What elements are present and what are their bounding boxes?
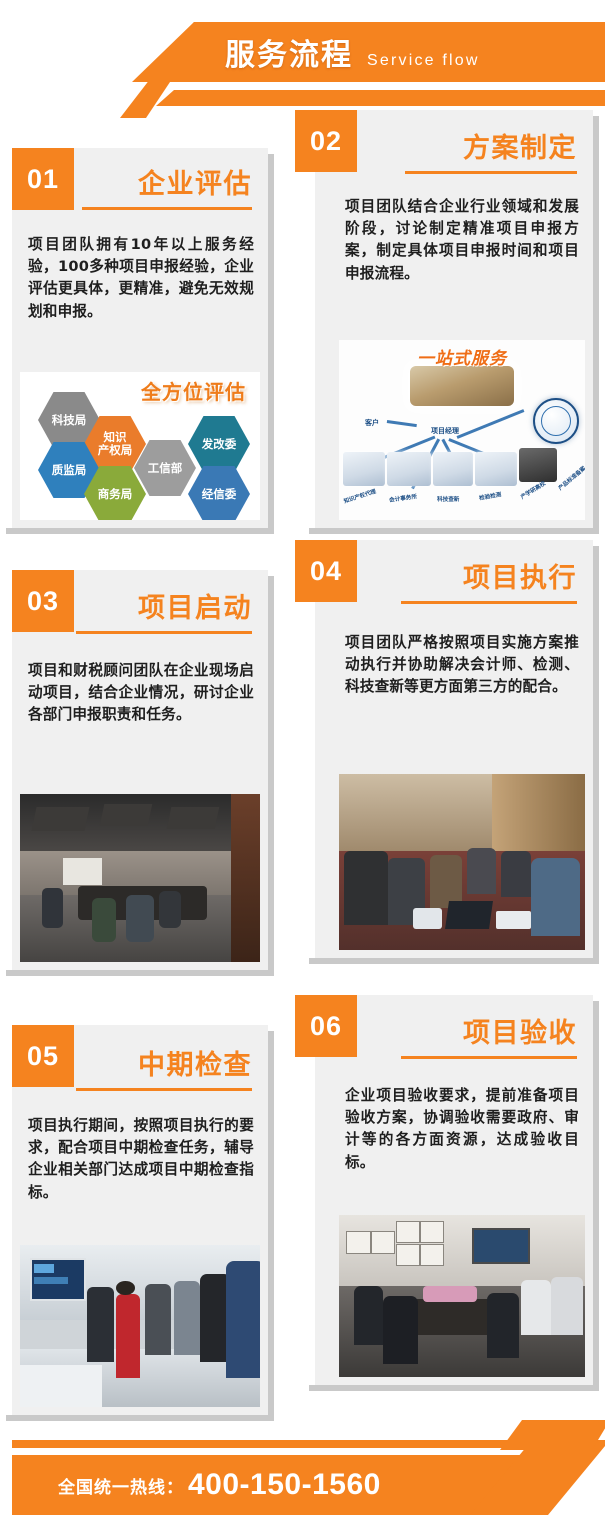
- card-body-02: 项目团队结合企业行业领域和发展阶段，讨论制定精准项目申报方案，制定具体项目申报时…: [345, 196, 579, 285]
- card-badge-06: 06: [295, 995, 357, 1057]
- one-stop-node-xiangmujingli: 项目经理: [431, 426, 459, 436]
- card-photo-06: [339, 1215, 585, 1377]
- one-stop-diagram-02: 一站式服务 客户 项目经理 知识产权代理 会计事务所 科技查新 检验检测 产学研…: [339, 340, 585, 520]
- card-title-rule-05: [76, 1088, 252, 1091]
- one-stop-caption: 一站式服务: [339, 344, 585, 369]
- infographic-page: 服务流程 Service flow 01 企业评估 项目团队拥有10年以上服务经…: [0, 0, 605, 1538]
- one-stop-label-1: 知识产权代理: [343, 487, 377, 505]
- footer-thin-bar: [12, 1440, 532, 1448]
- card-photo-03: [20, 794, 260, 962]
- card-badge-05: 05: [12, 1025, 74, 1087]
- one-stop-node-kehu: 客户: [365, 418, 379, 428]
- card-body-03: 项目和财税顾问团队在企业现场启动项目，结合企业情况，研讨企业各部门申报职责和任务…: [28, 660, 254, 727]
- one-stop-img-4: [475, 452, 517, 486]
- card-title-rule-01: [82, 207, 252, 210]
- one-stop-label-4: 检验检测: [478, 490, 501, 502]
- card-body-05: 项目执行期间，按照项目执行的要求，配合项目中期检查任务，辅导企业相关部门达成项目…: [28, 1115, 254, 1204]
- card-title-rule-02: [405, 171, 577, 174]
- hotline-number[interactable]: 400-150-1560: [188, 1468, 381, 1502]
- one-stop-label-2: 会计事务所: [389, 492, 418, 504]
- footer-diagonal-shape-2: [500, 1420, 605, 1450]
- one-stop-label-3: 科技查新: [437, 495, 459, 503]
- hex-node-fagaiwei: 发改委: [188, 416, 250, 472]
- card-title-rule-06: [401, 1056, 577, 1059]
- card-04[interactable]: 项目执行 项目团队严格按照项目实施方案推动执行并协助解决会计师、检测、科技查新等…: [315, 540, 593, 958]
- page-footer: 全国统一热线： 400-150-1560: [0, 1420, 605, 1538]
- card-title-rule-03: [76, 631, 252, 634]
- one-stop-arrow-2: [457, 409, 525, 438]
- one-stop-certification-seal: [533, 398, 579, 444]
- one-stop-img-1: [343, 452, 385, 486]
- hotline-label: 全国统一热线：: [58, 1473, 184, 1498]
- card-badge-04: 04: [295, 540, 357, 602]
- hex-diagram-01: 全方位评估 科技局 知识 产权局 发改委 质监局 工信部 商务局 经信委: [20, 372, 260, 520]
- card-photo-05: [20, 1245, 260, 1407]
- page-header: 服务流程 Service flow: [0, 0, 605, 118]
- header-orange-underbar: [156, 90, 605, 106]
- one-stop-img-2: [387, 452, 431, 486]
- footer-hotline-group: 全国统一热线： 400-150-1560: [58, 1468, 381, 1502]
- header-title-group: 服务流程 Service flow: [225, 30, 480, 78]
- card-body-01: 项目团队拥有10年以上服务经验，100多种项目申报经验，企业评估更具体，更精准，…: [28, 234, 254, 323]
- card-photo-04: [339, 774, 585, 950]
- card-badge-01: 01: [12, 148, 74, 210]
- one-stop-label-6: 产品标准备案: [556, 464, 585, 492]
- card-body-04: 项目团队严格按照项目实施方案推动执行并协助解决会计师、检测、科技查新等更方面第三…: [345, 632, 579, 699]
- card-badge-03: 03: [12, 570, 74, 632]
- page-subtitle: Service flow: [367, 52, 480, 70]
- one-stop-arrow-1: [387, 420, 417, 427]
- card-body-06: 企业项目验收要求，提前准备项目验收方案，协调验收需要政府、审计等的各方面资源，达…: [345, 1085, 579, 1174]
- one-stop-img-3: [433, 452, 473, 486]
- page-title: 服务流程: [225, 30, 353, 74]
- hex-node-jingxinwei: 经信委: [188, 466, 250, 520]
- hex-diagram-caption: 全方位评估: [141, 376, 246, 405]
- card-02[interactable]: 方案制定 项目团队结合企业行业领域和发展阶段，讨论制定精准项目申报方案，制定具体…: [315, 110, 593, 528]
- card-title-rule-04: [401, 601, 577, 604]
- one-stop-label-5: 产学研高校: [519, 479, 547, 501]
- one-stop-hub-photo: [410, 366, 514, 406]
- card-badge-02: 02: [295, 110, 357, 172]
- one-stop-img-5: [519, 448, 557, 482]
